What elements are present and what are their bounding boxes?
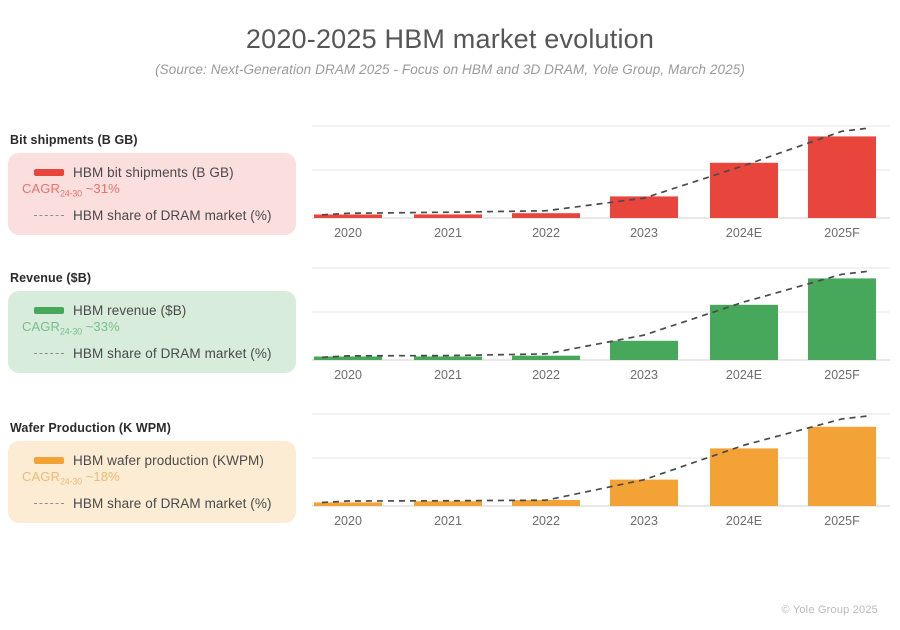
x-axis-tick-2021: 2021 — [434, 368, 462, 380]
cagr-value: ~31% — [86, 181, 120, 196]
color-swatch-icon — [34, 169, 64, 176]
bar-rect[interactable] — [512, 213, 580, 218]
chart-revenue: 20202021202220232024E2025F — [312, 262, 890, 380]
x-axis-tick-2020: 2020 — [334, 368, 362, 380]
dashed-line-icon — [34, 215, 64, 216]
x-axis-tick-2024E: 2024E — [726, 514, 762, 526]
x-axis-tick-2022: 2022 — [532, 368, 560, 380]
dashed-line-icon — [34, 353, 64, 354]
bar-rect[interactable] — [808, 427, 876, 506]
bar-2021[interactable] — [414, 214, 482, 218]
x-axis-tick-2025F: 2025F — [824, 514, 860, 526]
bar-2023[interactable] — [610, 196, 678, 218]
legend-box-bit-shipments: HBM bit shipments (B GB) CAGR24-30 ~31% … — [8, 153, 296, 235]
bar-rect[interactable] — [610, 341, 678, 360]
section-heading-bit-shipments: Bit shipments (B GB) — [10, 133, 138, 147]
bar-rect[interactable] — [710, 305, 778, 360]
x-axis-tick-2020: 2020 — [334, 226, 362, 238]
bar-rect[interactable] — [414, 501, 482, 506]
page-subtitle: (Source: Next-Generation DRAM 2025 - Foc… — [0, 62, 900, 77]
cagr-value: ~33% — [86, 319, 120, 334]
x-axis-tick-2021: 2021 — [434, 226, 462, 238]
bar-2025F[interactable] — [808, 136, 876, 218]
bar-2024E[interactable] — [710, 305, 778, 360]
bar-2023[interactable] — [610, 480, 678, 506]
bar-2023[interactable] — [610, 341, 678, 360]
color-swatch-icon — [34, 457, 64, 464]
dram-share-dashed-line[interactable] — [322, 416, 868, 503]
color-swatch-icon — [34, 307, 64, 314]
bar-rect[interactable] — [808, 136, 876, 218]
cagr-prefix: CAGR — [22, 181, 60, 196]
page-title: 2020-2025 HBM market evolution — [0, 24, 900, 55]
bar-2024E[interactable] — [710, 163, 778, 218]
dram-share-dashed-line[interactable] — [322, 271, 868, 357]
x-axis-tick-2023: 2023 — [630, 226, 658, 238]
cagr-prefix: CAGR — [22, 319, 60, 334]
legend-label-bar: HBM bit shipments (B GB) — [73, 165, 234, 180]
legend-entry-line: HBM share of DRAM market (%) — [22, 496, 286, 511]
x-axis-tick-2025F: 2025F — [824, 368, 860, 380]
legend-entry-bar: HBM wafer production (KWPM) — [22, 453, 286, 468]
x-axis-tick-2024E: 2024E — [726, 226, 762, 238]
bar-2022[interactable] — [512, 213, 580, 218]
legend-label-line: HBM share of DRAM market (%) — [73, 208, 272, 223]
legend-box-wafer-production: HBM wafer production (KWPM) CAGR24-30 ~1… — [8, 441, 296, 523]
x-axis-tick-2020: 2020 — [334, 514, 362, 526]
chart-plot-area: 20202021202220232024E2025F — [312, 262, 890, 380]
bar-rect[interactable] — [808, 278, 876, 360]
bar-rect[interactable] — [610, 196, 678, 218]
bar-rect[interactable] — [512, 356, 580, 360]
chart-plot-area: 20202021202220232024E2025F — [312, 120, 890, 238]
chart-wafer-production: 20202021202220232024E2025F — [312, 408, 890, 526]
legend-label-bar: HBM wafer production (KWPM) — [73, 453, 264, 468]
copyright-note: © Yole Group 2025 — [781, 604, 878, 616]
x-axis-tick-2023: 2023 — [630, 514, 658, 526]
x-axis-tick-2022: 2022 — [532, 514, 560, 526]
bar-2021[interactable] — [414, 357, 482, 361]
legend-entry-bar: HBM bit shipments (B GB) — [22, 165, 286, 180]
cagr-note: CAGR24-30 ~33% — [22, 319, 286, 337]
bar-rect[interactable] — [710, 448, 778, 506]
cagr-note: CAGR24-30 ~18% — [22, 469, 286, 487]
bar-2022[interactable] — [512, 356, 580, 360]
legend-label-bar: HBM revenue ($B) — [73, 303, 186, 318]
bar-rect[interactable] — [610, 480, 678, 506]
bar-rect[interactable] — [414, 357, 482, 361]
bar-2025F[interactable] — [808, 427, 876, 506]
legend-entry-line: HBM share of DRAM market (%) — [22, 208, 286, 223]
x-axis-tick-2023: 2023 — [630, 368, 658, 380]
x-axis-tick-2024E: 2024E — [726, 368, 762, 380]
legend-box-revenue: HBM revenue ($B) CAGR24-30 ~33% HBM shar… — [8, 291, 296, 373]
infographic-page: 2020-2025 HBM market evolution (Source: … — [0, 0, 900, 630]
cagr-value: ~18% — [86, 469, 120, 484]
chart-plot-area: 20202021202220232024E2025F — [312, 408, 890, 526]
dram-share-dashed-line[interactable] — [322, 128, 868, 215]
section-heading-wafer-production: Wafer Production (K WPM) — [10, 421, 171, 435]
bar-rect[interactable] — [414, 214, 482, 218]
bar-rect[interactable] — [710, 163, 778, 218]
bar-2024E[interactable] — [710, 448, 778, 506]
cagr-prefix: CAGR — [22, 469, 60, 484]
cagr-note: CAGR24-30 ~31% — [22, 181, 286, 199]
x-axis-tick-2022: 2022 — [532, 226, 560, 238]
bar-2021[interactable] — [414, 501, 482, 506]
cagr-subscript: 24-30 — [60, 189, 82, 199]
legend-label-line: HBM share of DRAM market (%) — [73, 346, 272, 361]
x-axis-tick-2025F: 2025F — [824, 226, 860, 238]
chart-bit-shipments: 20202021202220232024E2025F — [312, 120, 890, 238]
legend-label-line: HBM share of DRAM market (%) — [73, 496, 272, 511]
x-axis-tick-2021: 2021 — [434, 514, 462, 526]
dashed-line-icon — [34, 503, 64, 504]
bar-2025F[interactable] — [808, 278, 876, 360]
section-heading-revenue: Revenue ($B) — [10, 271, 91, 285]
cagr-subscript: 24-30 — [60, 477, 82, 487]
legend-entry-line: HBM share of DRAM market (%) — [22, 346, 286, 361]
legend-entry-bar: HBM revenue ($B) — [22, 303, 286, 318]
cagr-subscript: 24-30 — [60, 327, 82, 337]
